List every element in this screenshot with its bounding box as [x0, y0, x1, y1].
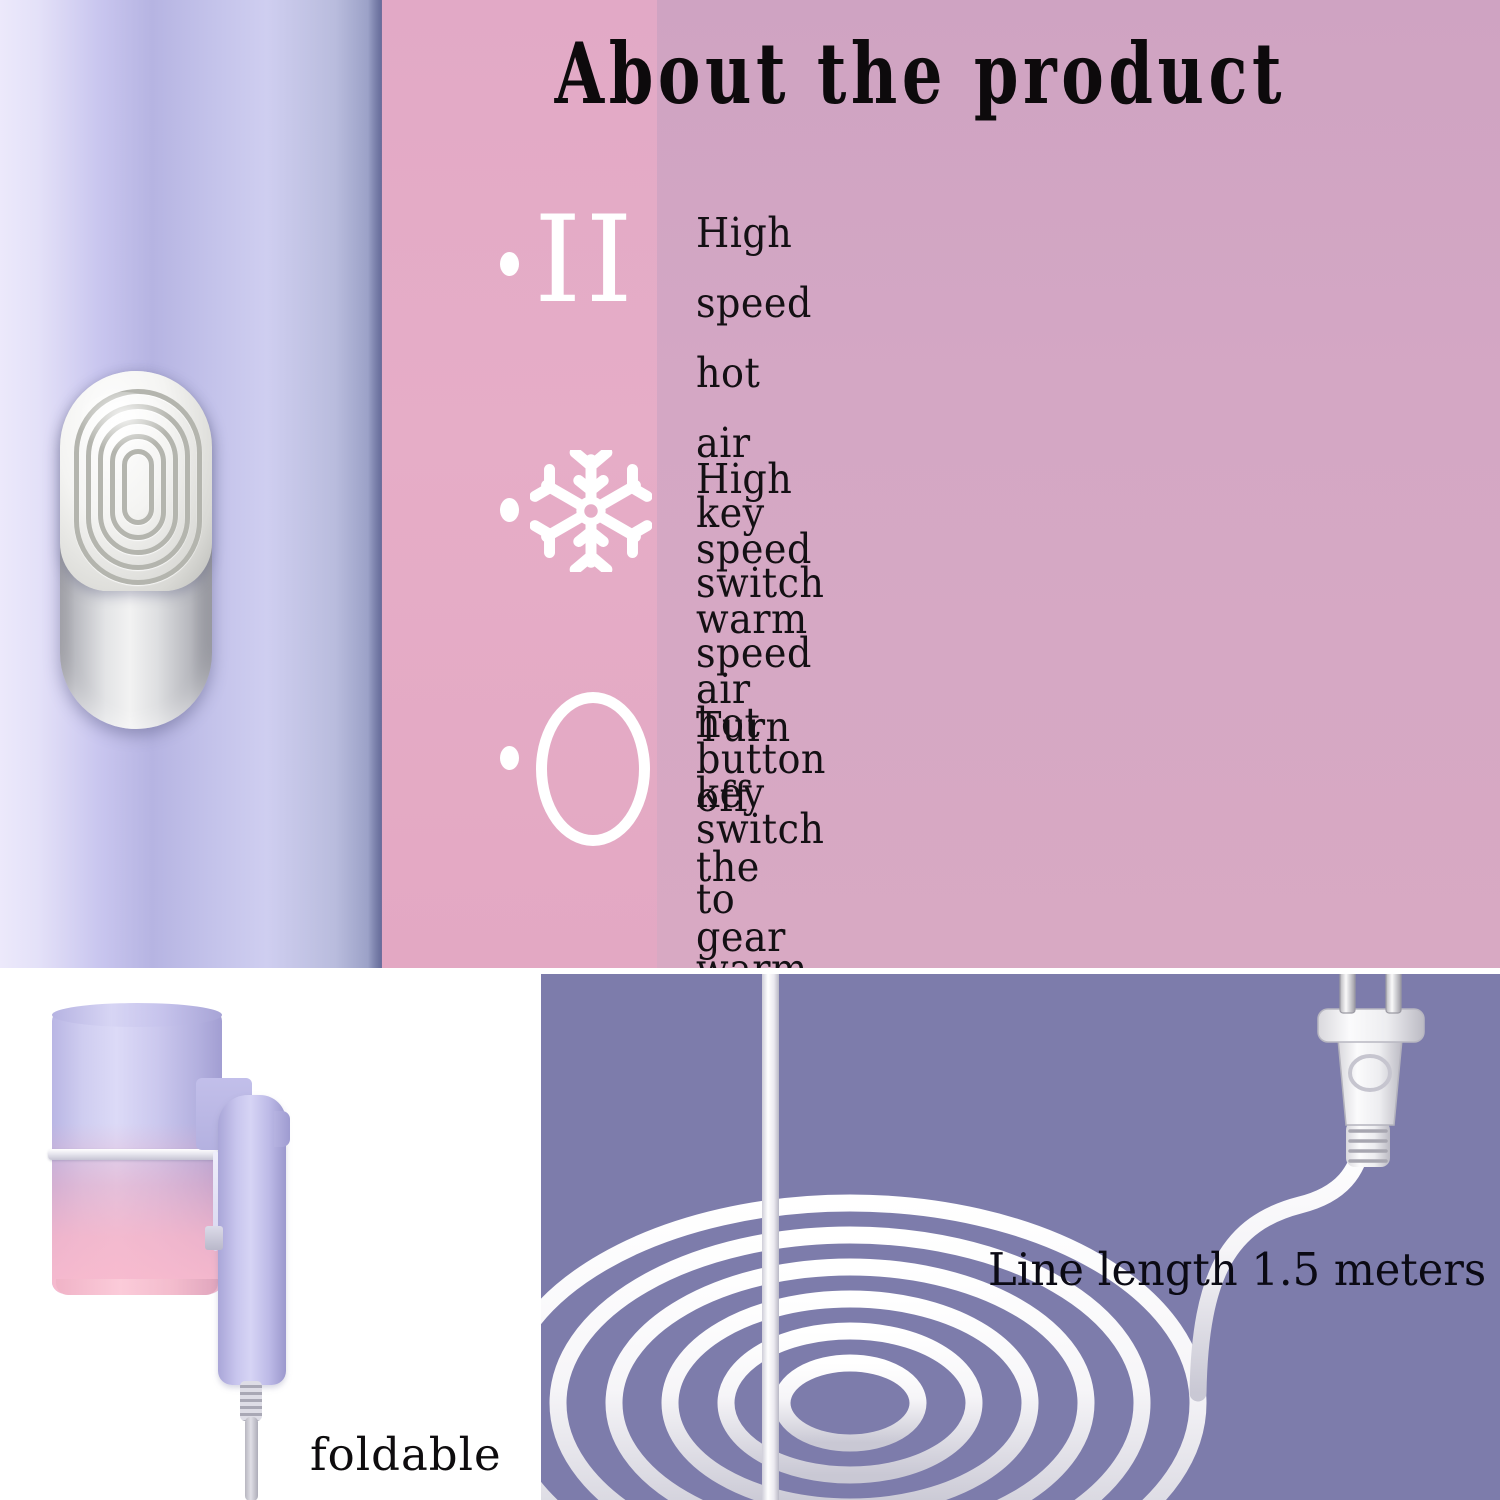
- line-length-caption: Line length 1.5 meters: [988, 1243, 1486, 1296]
- bullet-dot-icon: [500, 252, 519, 276]
- coiled-cord-illustration: [540, 973, 1500, 1500]
- dryer-barrel-bottom-lip: [56, 1279, 218, 1295]
- snowflake-icon: [526, 442, 646, 592]
- page-title: About the product: [555, 28, 1186, 120]
- power-button-ridged-head[interactable]: [60, 371, 212, 591]
- dryer-silver-ring: [48, 1149, 226, 1160]
- roman-numeral-two-glyph: II: [534, 206, 630, 324]
- bullet-dot-icon: [500, 498, 519, 522]
- panel-divider-horizontal: [0, 968, 1500, 974]
- top-panel-about-product: About the product II High speed hot air …: [0, 0, 1500, 972]
- bottom-left-panel-foldable: [0, 973, 539, 1500]
- bullet-dot-icon: [500, 746, 519, 770]
- dryer-cord-strain-relief: [240, 1381, 262, 1421]
- power-off-circle-shape: [536, 692, 650, 846]
- dryer-handle-notch: [274, 1111, 290, 1147]
- bottom-right-panel-cord-length: [540, 973, 1500, 1500]
- panel-divider-vertical: [535, 968, 541, 1500]
- dryer-hinge-pin: [205, 1226, 223, 1250]
- foldable-caption: foldable: [310, 1428, 502, 1481]
- feature-label-power-off: Turn off the gear and power: [696, 692, 819, 972]
- roman-numeral-two-icon: II: [526, 196, 646, 346]
- button-ridge-5: [122, 449, 154, 525]
- product-infographic: About the product II High speed hot air …: [0, 0, 1500, 1500]
- power-plug-icon: [1318, 973, 1424, 1167]
- hair-dryer-body-edge-shadow: [368, 0, 382, 972]
- snowflake-icon-svg: [530, 450, 652, 572]
- dryer-barrel-top-cap: [52, 1003, 222, 1027]
- dryer-cord: [245, 1417, 258, 1500]
- power-off-circle-icon: [526, 690, 646, 840]
